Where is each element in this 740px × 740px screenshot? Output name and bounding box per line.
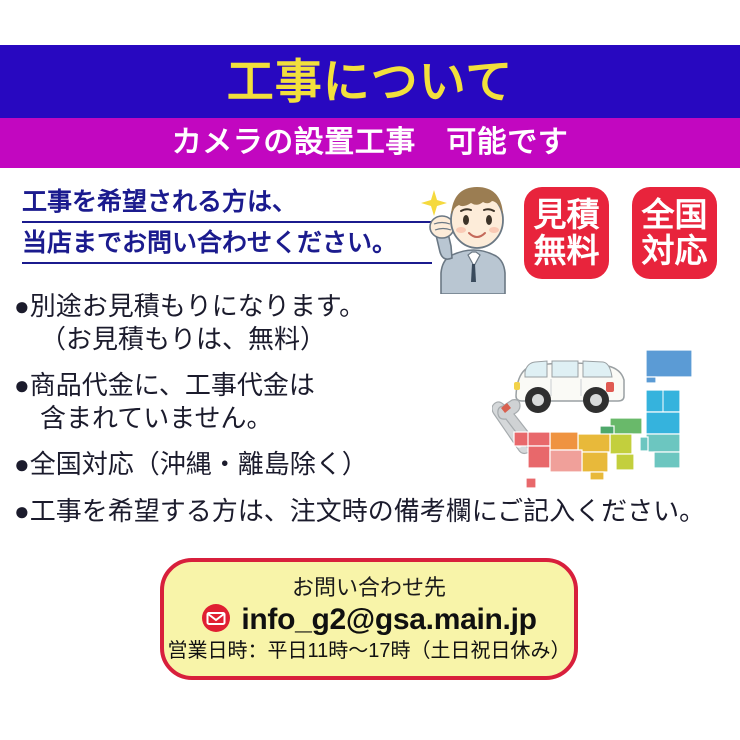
badge-line-2: 対応 (642, 233, 708, 269)
header-banner-secondary: カメラの設置工事 可能です (0, 118, 740, 168)
lead-text-block: 工事を希望される方は、 当店までお問い合わせください。 (22, 186, 432, 268)
bullet-main: ●工事を希望する方は、注文時の備考欄にご記入ください。 (14, 495, 734, 528)
worker-thumbs-up-icon (420, 172, 528, 294)
mail-icon (201, 603, 231, 638)
lead-line-1: 工事を希望される方は、 (22, 186, 432, 223)
contact-heading: お問い合わせ先 (292, 576, 446, 600)
lead-line-2: 当店までお問い合わせください。 (22, 227, 432, 264)
badge-line-1: 全国 (642, 197, 708, 233)
badge-line-2: 無料 (534, 233, 600, 269)
contact-email-address[interactable]: info_g2@gsa.main.jp (241, 604, 536, 636)
service-van-icon (514, 361, 624, 413)
worker-illustration (420, 172, 528, 294)
status-badge-quote-free: 見積 無料 (524, 187, 609, 279)
page-subtitle: カメラの設置工事 可能です (172, 128, 569, 158)
service-illustration (492, 332, 738, 497)
contact-info-box: お問い合わせ先 info_g2@gsa.main.jp 営業日時：平日11時～1… (160, 558, 578, 680)
status-badge-nationwide: 全国 対応 (632, 187, 717, 279)
page-title: 工事について (227, 58, 514, 105)
badge-line-1: 見積 (534, 197, 600, 233)
list-item: ●工事を希望する方は、注文時の備考欄にご記入ください。 (14, 495, 734, 528)
contact-email-row: info_g2@gsa.main.jp (201, 603, 536, 638)
bullet-main: ●別途お見積もりになります。 (14, 290, 734, 323)
header-banner-primary: 工事について (0, 45, 740, 118)
contact-business-hours: 営業日時：平日11時～17時（土日祝日休み） (167, 640, 570, 662)
